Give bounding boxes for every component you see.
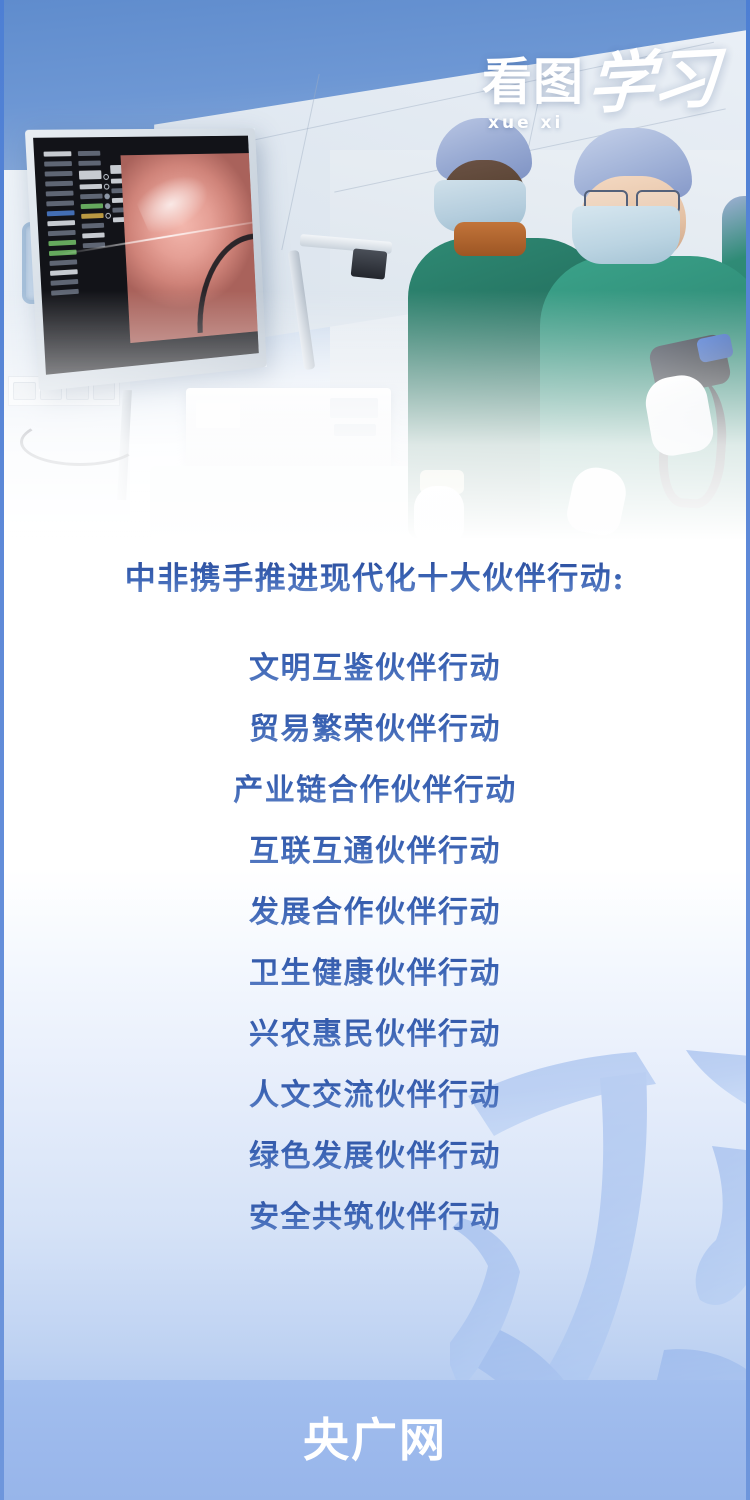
list-item: 绿色发展伙伴行动	[0, 1127, 750, 1188]
list-item: 兴农惠民伙伴行动	[0, 1005, 750, 1066]
page-title: 中非携手推进现代化十大伙伴行动:	[0, 560, 750, 599]
boom-arm-head	[351, 248, 388, 279]
main-content: 中非携手推进现代化十大伙伴行动: 文明互鉴伙伴行动 贸易繁荣伙伴行动 产业链合作…	[0, 560, 750, 1249]
monitor-ui-column	[43, 151, 78, 295]
edge-rail-right	[746, 0, 750, 1500]
brand-title-script: 学习	[586, 49, 718, 115]
list-item: 贸易繁荣伙伴行动	[0, 700, 750, 761]
list-item: 安全共筑伙伴行动	[0, 1188, 750, 1249]
brand-title-block: 看图	[482, 57, 584, 107]
brand-logo: 看图 学习 xue xi	[482, 52, 716, 133]
list-item: 产业链合作伙伴行动	[0, 761, 750, 822]
poster-root: 看图 学习 xue xi	[0, 0, 750, 1500]
gown-collar	[454, 222, 526, 256]
photo-fade-overlay	[0, 290, 750, 540]
list-item: 互联互通伙伴行动	[0, 822, 750, 883]
list-item: 卫生健康伙伴行动	[0, 944, 750, 1005]
footer-band: 央广网	[0, 1380, 750, 1500]
list-item: 人文交流伙伴行动	[0, 1066, 750, 1127]
brand-title-row: 看图 学习	[482, 52, 716, 111]
list-item: 发展合作伙伴行动	[0, 883, 750, 944]
edge-rail-left	[0, 0, 4, 1500]
list-item: 文明互鉴伙伴行动	[0, 639, 750, 700]
publisher-logo: 央广网	[303, 1417, 447, 1463]
surgical-mask	[572, 206, 680, 264]
partnership-action-list: 文明互鉴伙伴行动 贸易繁荣伙伴行动 产业链合作伙伴行动 互联互通伙伴行动 发展合…	[0, 639, 750, 1249]
monitor-ui-column	[78, 151, 106, 248]
